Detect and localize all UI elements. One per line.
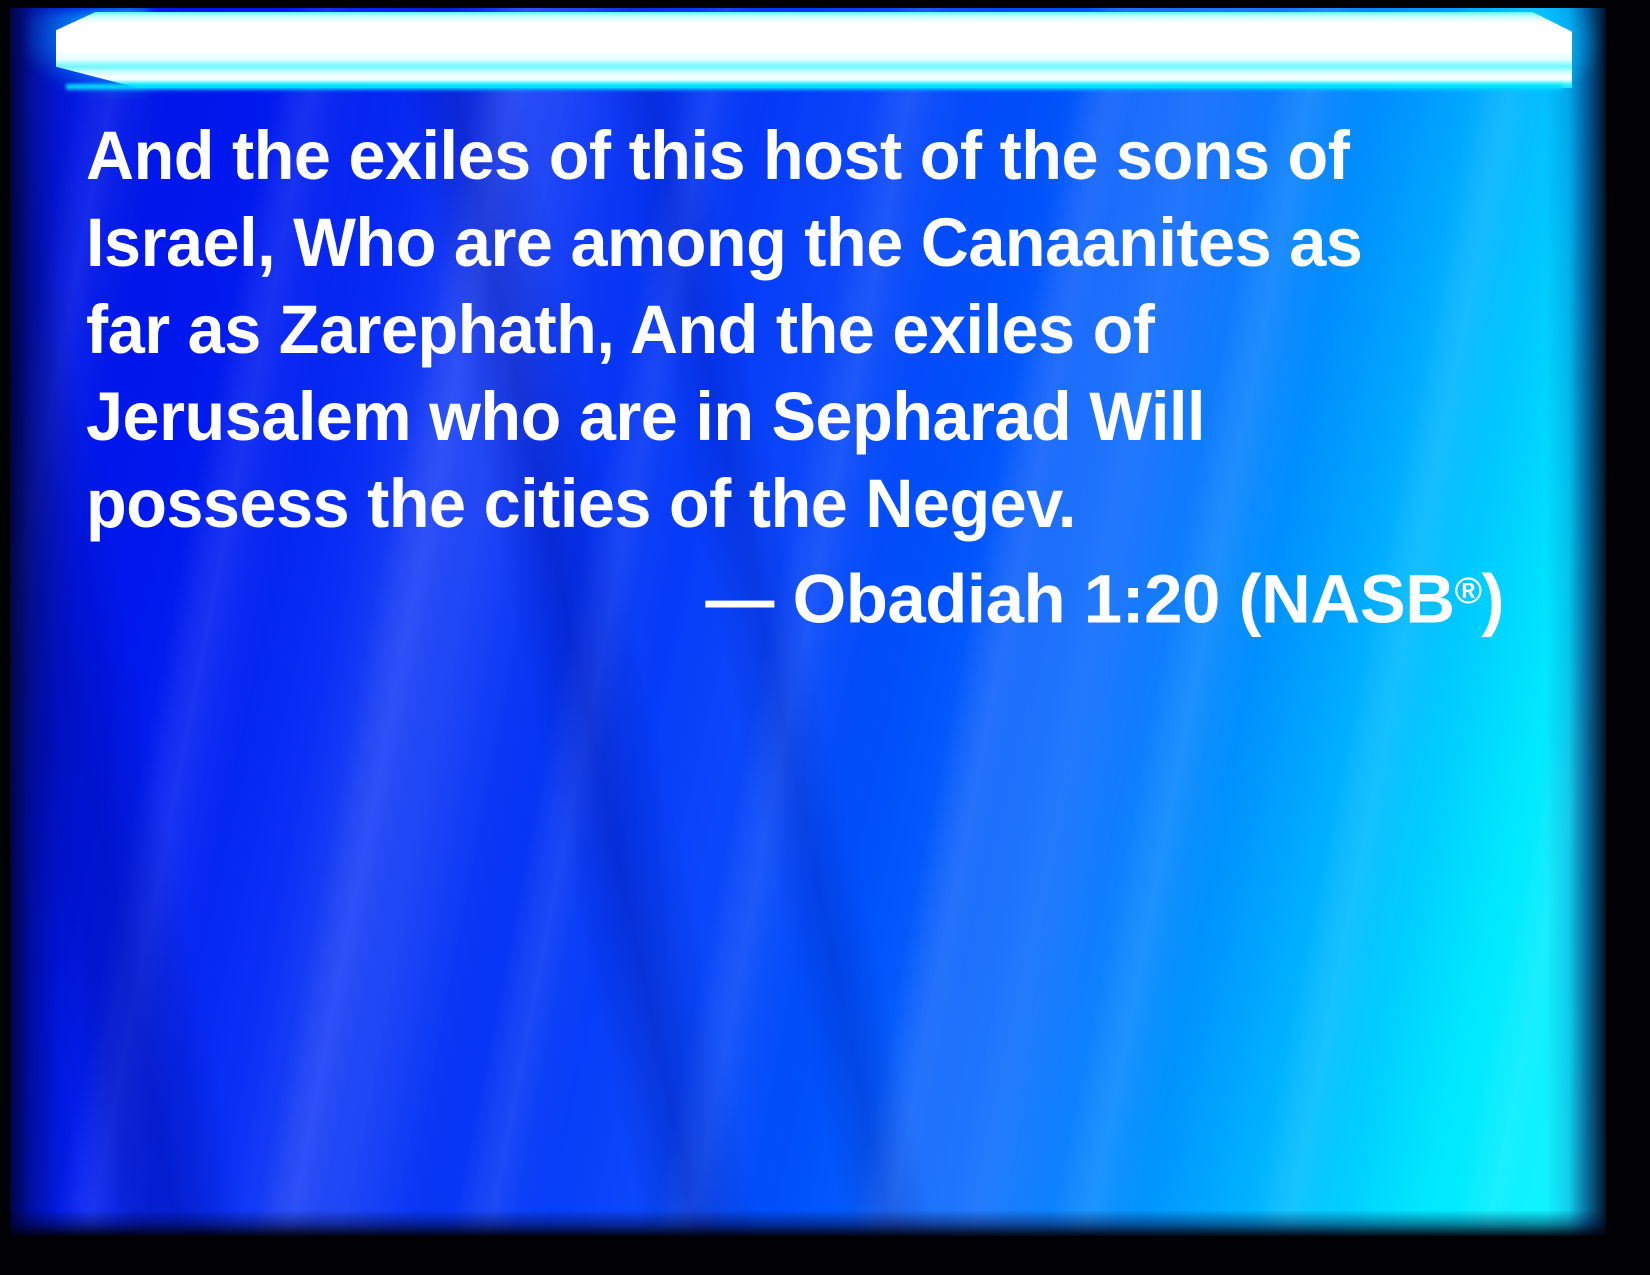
verse-line-5: possess the cities of the Negev.: [86, 460, 1456, 547]
attribution-book: Obadiah: [793, 560, 1066, 637]
scripture-slide: And the exiles of this host of the sons …: [0, 0, 1650, 1275]
verse-line-3: far as Zarephath, And the exiles of: [86, 286, 1456, 373]
verse-line-2: Israel, Who are among the Canaanites as: [86, 199, 1456, 286]
bottom-edge-shading: [10, 1210, 1606, 1236]
attribution-reference: 1:20: [1084, 560, 1220, 637]
attribution-open-paren: (: [1239, 560, 1261, 637]
right-edge-shading: [1546, 8, 1606, 1236]
attribution-dash: —: [705, 560, 774, 637]
registered-trademark-icon: ®: [1455, 569, 1482, 611]
verse-line-4: Jerusalem who are in Sepharad Will: [86, 373, 1456, 460]
verse-text-block: And the exiles of this host of the sons …: [86, 112, 1506, 642]
attribution-translation: NASB: [1261, 560, 1455, 637]
left-edge-shading: [10, 8, 80, 1236]
attribution-close-paren: ): [1482, 560, 1504, 637]
verse-line-1: And the exiles of this host of the sons …: [86, 112, 1456, 199]
verse-attribution: — Obadiah 1:20 (NASB®): [86, 547, 1506, 642]
